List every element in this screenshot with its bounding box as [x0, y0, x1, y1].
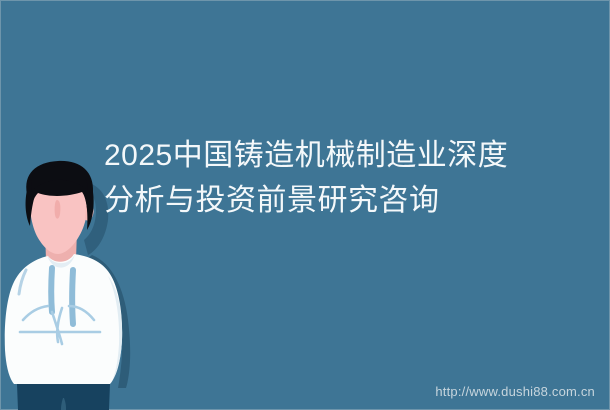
poster-banner: 2025中国铸造机械制造业深度 分析与投资前景研究咨询 http://www.d…	[0, 0, 610, 410]
nose	[55, 200, 61, 219]
drawstring-right	[72, 270, 73, 324]
poster-headline: 2025中国铸造机械制造业深度 分析与投资前景研究咨询	[104, 133, 574, 223]
watermark-url: http://www.dushi88.com.cn	[435, 384, 595, 399]
drawstring-left	[51, 268, 52, 312]
